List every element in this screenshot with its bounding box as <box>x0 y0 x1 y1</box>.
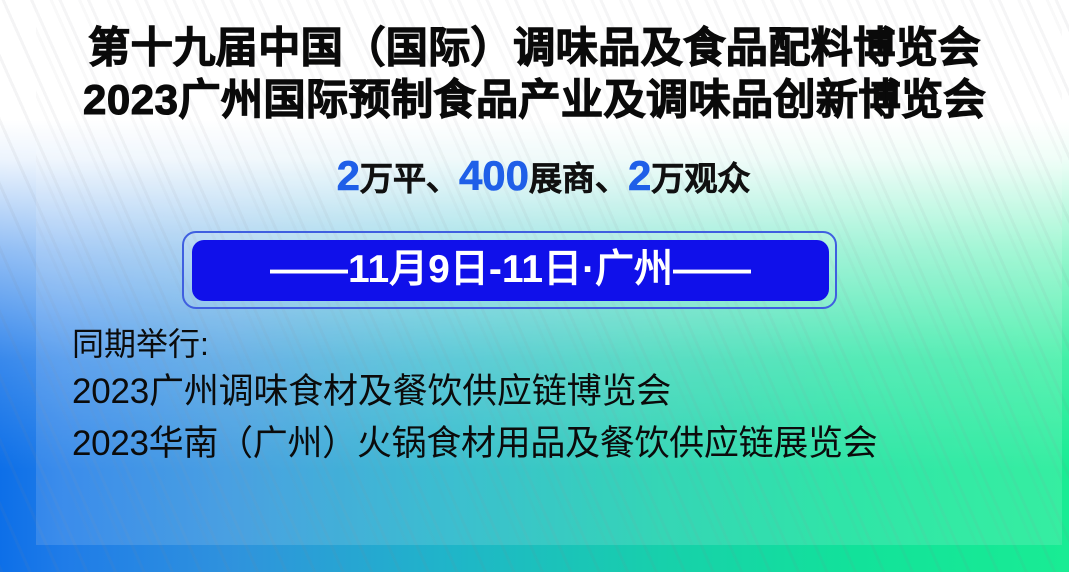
stat-number-visitors: 2 <box>628 152 651 199</box>
stats-row: 2万平、400展商、2万观众 <box>0 152 1069 200</box>
stat-label-area: 万平、 <box>360 160 459 197</box>
stat-label-exhibitors: 展商、 <box>529 160 628 197</box>
poster-title: 第十九届中国（国际）调味品及食品配料博览会 2023广州国际预制食品产业及调味品… <box>0 22 1069 126</box>
stats-inner: 2万平、400展商、2万观众 <box>319 152 751 200</box>
title-line-2: 2023广州国际预制食品产业及调味品创新博览会 <box>0 74 1069 126</box>
event-poster: 第十九届中国（国际）调味品及食品配料博览会 2023广州国际预制食品产业及调味品… <box>0 0 1069 572</box>
concurrent-event-1: 2023广州调味食材及餐饮供应链博览会 <box>72 366 1062 418</box>
poster-content: 第十九届中国（国际）调味品及食品配料博览会 2023广州国际预制食品产业及调味品… <box>0 0 1069 572</box>
title-line-1: 第十九届中国（国际）调味品及食品配料博览会 <box>0 22 1069 74</box>
concurrent-events-block: 同期举行: 2023广州调味食材及餐饮供应链博览会 2023华南（广州）火锅食材… <box>72 322 1062 470</box>
concurrent-events-label: 同期举行: <box>72 322 1062 366</box>
stat-label-visitors: 万观众 <box>651 160 750 197</box>
stat-number-area: 2 <box>337 152 360 199</box>
concurrent-event-2: 2023华南（广州）火锅食材用品及餐饮供应链展览会 <box>72 418 1062 470</box>
date-location-text: ——11月9日-11日·广州—— <box>270 250 751 291</box>
date-location-badge: ——11月9日-11日·广州—— <box>192 240 829 301</box>
stat-number-exhibitors: 400 <box>459 152 529 199</box>
